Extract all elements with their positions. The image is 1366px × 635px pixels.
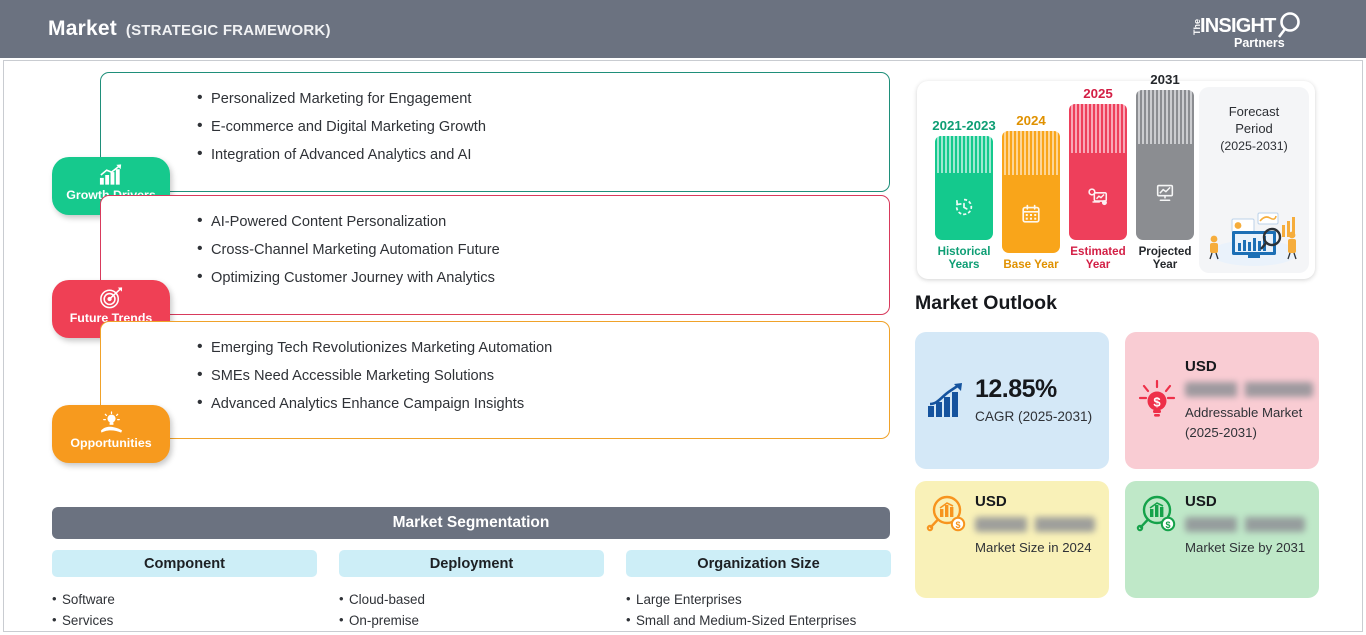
forecast-range: (2025-2031) [1199, 139, 1309, 153]
timeline-label: Estimated Year [1069, 245, 1127, 271]
list-item: Large Enterprises [626, 589, 891, 610]
redacted-value [975, 517, 1095, 532]
svg-text:$: $ [1165, 520, 1170, 530]
svg-text:Partners: Partners [1234, 36, 1285, 50]
page-subtitle: (STRATEGIC FRAMEWORK) [126, 22, 331, 39]
timeline-label: Base Year [1002, 258, 1060, 271]
segment-header-component[interactable]: Component [52, 550, 317, 577]
outlook-card-addressable-market: $ USD Addressable Market (2025-2031) [1125, 332, 1319, 469]
timeline-bars: 2021-2023 Historical Years [931, 81, 1181, 279]
list-item: Integration of Advanced Analytics and AI [197, 141, 889, 169]
segmentation-title: Market Segmentation [393, 514, 550, 532]
target-dart-icon [98, 286, 125, 310]
segmentation-column-deployment: Deployment Cloud-based On-premise [339, 550, 604, 631]
segmentation-column-organization-size: Organization Size Large Enterprises Smal… [626, 550, 891, 631]
outlook-card-market-size-2024: $ USD Market Size in 2024 [915, 481, 1109, 598]
segment-items-organization-size: Large Enterprises Small and Medium-Sized… [626, 589, 891, 631]
timeline-item-historical: 2021-2023 Historical Years [935, 118, 993, 271]
list-item: Services [52, 610, 317, 631]
forecast-title-line2: Period [1199, 120, 1309, 137]
business-analytics-illustration [1202, 205, 1306, 267]
segment-items-deployment: Cloud-based On-premise [339, 589, 604, 631]
outlook-card-cagr: 12.85% CAGR (2025-2031) [915, 332, 1109, 469]
pillar-box-opportunities: Emerging Tech Revolutionizes Marketing A… [100, 321, 890, 439]
card-caption: Market Size by 2031 [1185, 538, 1305, 558]
redacted-value [1185, 517, 1305, 532]
currency-unit: USD [975, 493, 1095, 510]
magnifier-chart-dollar-icon: $ [925, 493, 969, 535]
timeline-item-estimated: 2025 Estimated [1069, 86, 1127, 271]
bar-chart-arrow-icon [925, 382, 969, 420]
list-item: Cloud-based [339, 589, 604, 610]
forecast-analytics-icon [1087, 185, 1109, 207]
list-item: E-commerce and Digital Marketing Growth [197, 113, 889, 141]
timeline-bar [1002, 131, 1060, 253]
list-item: Advanced Analytics Enhance Campaign Insi… [197, 390, 889, 418]
outlook-card-market-size-2031: $ USD Market Size by 2031 [1125, 481, 1319, 598]
list-item: AI-Powered Content Personalization [197, 208, 889, 236]
currency-unit: USD [1185, 358, 1313, 375]
badge-label: Opportunities [70, 437, 151, 450]
market-outlook-title: Market Outlook [915, 292, 1057, 315]
projection-screen-icon [1154, 181, 1176, 203]
list-item: SMEs Need Accessible Marketing Solutions [197, 362, 889, 390]
cagr-value: 12.85% [975, 375, 1092, 404]
bar-chart-growth-icon [98, 163, 125, 187]
segmentation-column-component: Component Software Services [52, 550, 317, 631]
timeline-bar [1069, 104, 1127, 240]
card-caption: Addressable Market (2025-2031) [1185, 403, 1313, 443]
svg-text:$: $ [955, 520, 960, 530]
growth-drivers-list: Personalized Marketing for Engagement E-… [101, 73, 889, 169]
page-title: Market [48, 17, 117, 41]
list-item: Cross-Channel Marketing Automation Futur… [197, 236, 889, 264]
market-timeline-chart: 2021-2023 Historical Years [917, 81, 1315, 279]
segment-items-component: Software Services [52, 589, 317, 631]
header-title-group: Market (STRATEGIC FRAMEWORK) [48, 17, 331, 41]
pillar-box-future-trends: AI-Powered Content Personalization Cross… [100, 195, 890, 315]
timeline-item-projected: 2031 Projected Year [1136, 72, 1194, 271]
currency-unit: USD [1185, 493, 1305, 510]
infographic-page: Market (STRATEGIC FRAMEWORK) The INSIGHT… [0, 0, 1366, 635]
timeline-bar [1136, 90, 1194, 240]
lightbulb-in-hand-icon [98, 411, 125, 435]
forecast-title-line1: Forecast [1199, 103, 1309, 120]
list-item: Optimizing Customer Journey with Analyti… [197, 264, 889, 292]
list-item: On-premise [339, 610, 604, 631]
segment-header-deployment[interactable]: Deployment [339, 550, 604, 577]
badge-opportunities[interactable]: Opportunities [52, 405, 170, 463]
list-item: Software [52, 589, 317, 610]
svg-text:INSIGHT: INSIGHT [1200, 15, 1276, 37]
page-header: Market (STRATEGIC FRAMEWORK) The INSIGHT… [0, 0, 1366, 58]
timeline-item-base: 2024 [1002, 113, 1060, 271]
calendar-icon [1020, 203, 1042, 225]
list-item: Small and Medium-Sized Enterprises [626, 610, 891, 631]
timeline-year: 2025 [1069, 86, 1127, 101]
future-trends-list: AI-Powered Content Personalization Cross… [101, 196, 889, 292]
redacted-value [1185, 382, 1313, 397]
segment-header-organization-size[interactable]: Organization Size [626, 550, 891, 577]
market-segmentation-header: Market Segmentation [52, 507, 890, 539]
magnifier-chart-dollar-icon: $ [1135, 493, 1179, 535]
timeline-year: 2021-2023 [921, 118, 1007, 133]
svg-text:$: $ [1153, 394, 1161, 409]
opportunities-list: Emerging Tech Revolutionizes Marketing A… [101, 322, 889, 418]
card-caption: Market Size in 2024 [975, 538, 1095, 558]
pillar-box-growth-drivers: Personalized Marketing for Engagement E-… [100, 72, 890, 192]
timeline-year: 2024 [1002, 113, 1060, 128]
timeline-bar [935, 136, 993, 240]
insight-partners-logo: The INSIGHT Partners [1186, 7, 1308, 51]
forecast-period-panel: Forecast Period (2025-2031) [1199, 87, 1309, 273]
timeline-label: Projected Year [1136, 245, 1194, 271]
cagr-caption: CAGR (2025-2031) [975, 407, 1092, 427]
lightbulb-dollar-icon: $ [1135, 378, 1179, 424]
timeline-year: 2031 [1136, 72, 1194, 87]
history-clock-icon [953, 196, 975, 218]
list-item: Emerging Tech Revolutionizes Marketing A… [197, 334, 889, 362]
timeline-label: Historical Years [935, 245, 993, 271]
content-frame: Personalized Marketing for Engagement E-… [3, 60, 1363, 632]
list-item: Personalized Marketing for Engagement [197, 85, 889, 113]
